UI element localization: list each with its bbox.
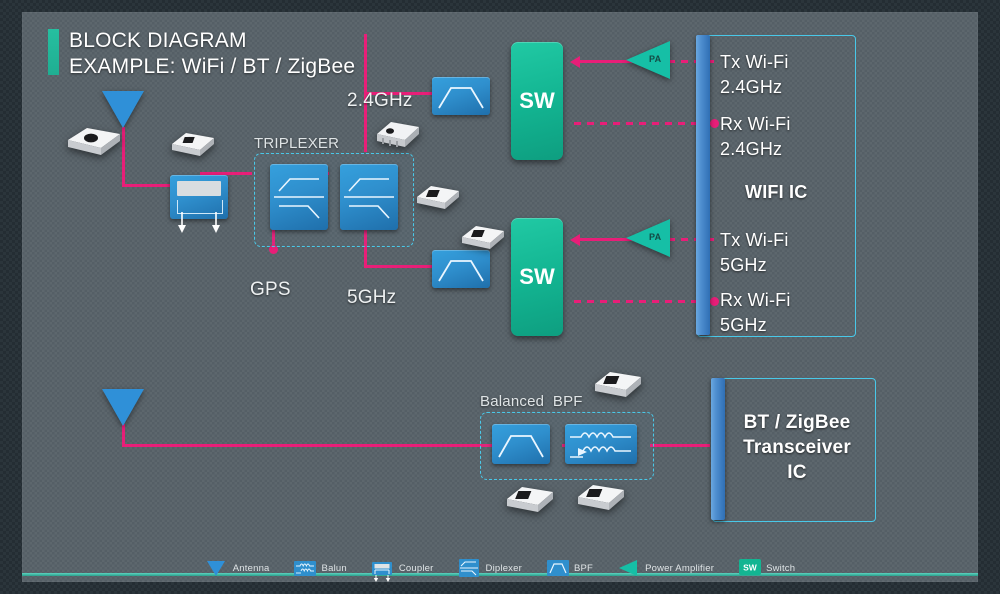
bt-ic-line3: IC bbox=[787, 462, 806, 483]
smd-chip-3 bbox=[415, 182, 461, 214]
wifi-ic-edge-bar bbox=[696, 35, 710, 335]
bpf-block-24ghz bbox=[432, 77, 490, 115]
trace-bt-main bbox=[122, 444, 497, 447]
power-amplifier-icon bbox=[617, 559, 639, 577]
bpf-symbol-bt bbox=[492, 424, 550, 464]
balun-symbol-bt bbox=[565, 424, 637, 464]
wifi-port-rx-24-line2: 2.4GHz bbox=[720, 139, 782, 159]
antenna-icon bbox=[205, 559, 227, 577]
bt-ic-edge-bar bbox=[711, 378, 725, 520]
smd-chip-5 bbox=[592, 367, 644, 403]
diplexer-block-2 bbox=[340, 164, 398, 230]
bpf-block-5ghz bbox=[432, 250, 490, 288]
smd-chip-6 bbox=[504, 482, 556, 518]
bpf-symbol-24 bbox=[432, 77, 490, 115]
switch-label-24: SW bbox=[519, 88, 554, 114]
diplexer-block-1 bbox=[270, 164, 328, 230]
wifi-port-rx-24-line1: Rx Wi-Fi bbox=[720, 114, 791, 134]
antenna-icon-bt bbox=[102, 389, 144, 426]
power-amplifier-24ghz: PA bbox=[626, 41, 670, 79]
legend-label-power-amplifier: Power Amplifier bbox=[645, 563, 714, 574]
legend-label-diplexer: Diplexer bbox=[486, 563, 522, 574]
bpf-symbol-5 bbox=[432, 250, 490, 288]
switch-block-24ghz: SW bbox=[511, 42, 563, 160]
smd-filter-chip-24ghz bbox=[374, 117, 422, 153]
diagram-canvas: BLOCK DIAGRAMEXAMPLE: WiFi / BT / ZigBee bbox=[22, 12, 978, 582]
bt-ic-line2: Transceiver bbox=[743, 437, 851, 458]
wifi-port-tx-24-line1: Tx Wi-Fi bbox=[720, 52, 789, 72]
smd-chip-7 bbox=[575, 480, 627, 516]
wifi-port-rx-24: Rx Wi-Fi2.4GHz bbox=[720, 112, 791, 162]
balanced-bpf-label: Balanced BPF bbox=[480, 393, 583, 410]
title-accent-bar bbox=[48, 29, 59, 75]
coupler-icon bbox=[371, 559, 393, 577]
wifi-port-tx-5-line1: Tx Wi-Fi bbox=[720, 230, 789, 250]
legend-label-antenna: Antenna bbox=[233, 563, 270, 574]
legend-label-coupler: Coupler bbox=[399, 563, 434, 574]
title-line-2: EXAMPLE: WiFi / BT / ZigBee bbox=[69, 55, 355, 78]
smd-chip-4 bbox=[460, 222, 506, 254]
band-24ghz-label: 2.4GHz bbox=[347, 90, 413, 112]
smd-chip-2 bbox=[170, 128, 216, 160]
power-amplifier-5ghz: PA bbox=[626, 219, 670, 257]
wifi-port-tx-24-line2: 2.4GHz bbox=[720, 77, 782, 97]
wifi-port-rx-5-line1: Rx Wi-Fi bbox=[720, 290, 791, 310]
switch-label-5: SW bbox=[519, 264, 554, 290]
legend-item-power-amplifier: Power Amplifier bbox=[617, 559, 714, 577]
svg-text:SW: SW bbox=[743, 563, 758, 573]
legend: Antenna Balun bbox=[22, 555, 978, 581]
band-5ghz-label: 5GHz bbox=[347, 287, 396, 309]
diplexer-icon bbox=[458, 559, 480, 577]
switch-icon: SW bbox=[738, 559, 760, 577]
diplexer-symbol-1 bbox=[270, 164, 328, 230]
triplexer-label: TRIPLEXER bbox=[254, 135, 339, 152]
wifi-ic-name: WIFI IC bbox=[745, 182, 807, 203]
legend-label-switch: Switch bbox=[766, 563, 795, 574]
legend-label-balun: Balun bbox=[322, 563, 347, 574]
pa-label-24: PA bbox=[649, 54, 661, 64]
diplexer-symbol-2 bbox=[340, 164, 398, 230]
pa-triangle-24 bbox=[626, 41, 670, 79]
bpf-icon bbox=[546, 559, 568, 577]
pa-label-5: PA bbox=[649, 232, 661, 242]
balun-icon bbox=[294, 559, 316, 577]
legend-item-bpf: BPF bbox=[546, 559, 593, 577]
gps-label: GPS bbox=[250, 279, 291, 301]
trace-tx5-arrow bbox=[570, 234, 580, 246]
legend-label-bpf: BPF bbox=[574, 563, 593, 574]
smd-chip-1 bbox=[65, 122, 123, 158]
wifi-port-tx-5-line2: 5GHz bbox=[720, 255, 767, 275]
block-diagram-screenshot: BLOCK DIAGRAMEXAMPLE: WiFi / BT / ZigBee bbox=[0, 0, 1000, 594]
balun-block-bt bbox=[565, 424, 637, 464]
pa-triangle-5 bbox=[626, 219, 670, 257]
bpf-block-bt bbox=[492, 424, 550, 464]
bt-ic-line1: BT / ZigBee bbox=[744, 412, 851, 433]
bt-ic-name: BT / ZigBeeTransceiverIC bbox=[728, 410, 866, 485]
page-title: BLOCK DIAGRAMEXAMPLE: WiFi / BT / ZigBee bbox=[69, 28, 355, 80]
wifi-port-rx-5: Rx Wi-Fi5GHz bbox=[720, 288, 791, 338]
wifi-port-tx-24: Tx Wi-Fi2.4GHz bbox=[720, 50, 789, 100]
title-line-1: BLOCK DIAGRAM bbox=[69, 29, 247, 52]
coupler-arrows bbox=[170, 212, 232, 234]
legend-item-coupler: Coupler bbox=[371, 559, 434, 577]
coupler-inner-bar bbox=[177, 181, 221, 196]
legend-item-diplexer: Diplexer bbox=[458, 559, 522, 577]
legend-item-antenna: Antenna bbox=[205, 559, 270, 577]
trace-bt-balun-to-ic bbox=[650, 444, 710, 447]
wifi-port-rx-5-line2: 5GHz bbox=[720, 315, 767, 335]
switch-block-5ghz: SW bbox=[511, 218, 563, 336]
wifi-port-tx-5: Tx Wi-Fi5GHz bbox=[720, 228, 789, 278]
legend-item-switch: SW Switch bbox=[738, 559, 795, 577]
trace-tx24-arrow bbox=[570, 56, 580, 68]
legend-item-balun: Balun bbox=[294, 559, 347, 577]
